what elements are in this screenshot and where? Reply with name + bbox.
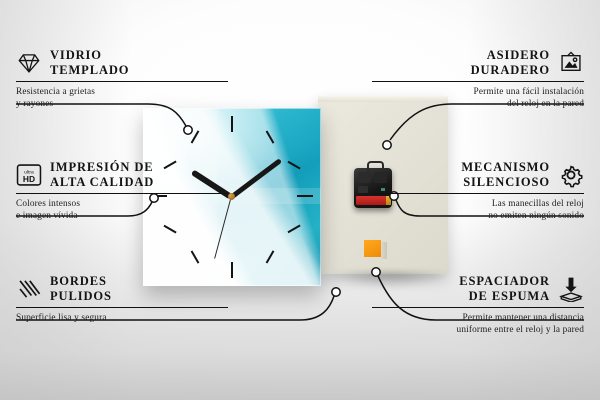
feature-asidero-duradero[interactable]: ASIDERO DURADERO Permite una fácil insta…	[372, 48, 584, 111]
feature-impresion-alta-calidad[interactable]: ultra HD IMPRESIÓN DE ALTA CALIDAD Color…	[16, 160, 228, 223]
feature-title-line1: VIDRIO	[50, 48, 129, 63]
feature-title: BORDES PULIDOS	[50, 274, 112, 304]
feature-description: Resistencia a grietas y rayones	[16, 86, 228, 111]
feature-espaciador-espuma[interactable]: ESPACIADOR DE ESPUMA Permite mantener un…	[372, 274, 584, 337]
feature-title-line2: TEMPLADO	[50, 63, 129, 78]
feature-bordes-pulidos[interactable]: BORDES PULIDOS Superficie lisa y segura	[16, 274, 228, 324]
feature-desc-line2: uniforme entre el reloj y la pared	[372, 324, 584, 337]
feature-divider	[16, 81, 228, 82]
feature-title-line1: BORDES	[50, 274, 112, 289]
foam-spacer-side	[381, 242, 387, 259]
feature-desc-line1: Resistencia a grietas	[16, 86, 228, 99]
feature-title-line1: IMPRESIÓN DE	[50, 160, 154, 175]
feature-divider	[16, 193, 228, 194]
feature-desc-line2: del reloj en la pared	[372, 98, 584, 111]
feature-desc-line1: Colores intensos	[16, 198, 228, 211]
feature-title-line2: ALTA CALIDAD	[50, 175, 154, 190]
feature-title: MECANISMO SILENCIOSO	[461, 160, 550, 190]
feature-title-line2: SILENCIOSO	[461, 175, 550, 190]
feature-desc-line2: e imagen vívida	[16, 210, 228, 223]
feature-divider	[372, 193, 584, 194]
feature-description: Permite una fácil instalación del reloj …	[372, 86, 584, 111]
feature-description: Permite mantener una distancia uniforme …	[372, 312, 584, 337]
feature-desc-line2: y rayones	[16, 98, 228, 111]
feature-description: Las manecillas del reloj no emiten ningú…	[372, 198, 584, 223]
feature-desc-line1: Permite mantener una distancia	[372, 312, 584, 325]
feature-title-line1: MECANISMO	[461, 160, 550, 175]
feature-title: ESPACIADOR DE ESPUMA	[459, 274, 550, 304]
feature-title-line2: PULIDOS	[50, 289, 112, 304]
feature-desc-line2: no emiten ningún sonido	[372, 210, 584, 223]
gear-icon	[558, 162, 584, 188]
feature-description: Colores intensos e imagen vívida	[16, 198, 228, 223]
feature-desc-line1: Superficie lisa y segura	[16, 312, 228, 325]
feature-title-line2: DE ESPUMA	[459, 289, 550, 304]
diagonal-lines-icon	[16, 276, 42, 302]
svg-text:HD: HD	[23, 174, 35, 184]
feature-title-line1: ASIDERO	[471, 48, 550, 63]
feature-divider	[372, 81, 584, 82]
ultra-hd-icon: ultra HD	[16, 162, 42, 188]
mechanism-dial-left	[358, 172, 371, 183]
feature-title: VIDRIO TEMPLADO	[50, 48, 129, 78]
feature-vidrio-templado[interactable]: VIDRIO TEMPLADO Resistencia a grietas y …	[16, 48, 228, 111]
feature-desc-line1: Permite una fácil instalación	[372, 86, 584, 99]
feature-title: IMPRESIÓN DE ALTA CALIDAD	[50, 160, 154, 190]
feature-title: ASIDERO DURADERO	[471, 48, 550, 78]
mechanism-slot	[358, 186, 368, 193]
feature-title-line1: ESPACIADOR	[459, 274, 550, 289]
hanging-frame-icon	[558, 50, 584, 76]
feature-description: Superficie lisa y segura	[16, 312, 228, 325]
foam-spacer	[364, 240, 381, 257]
feature-mecanismo-silencioso[interactable]: MECANISMO SILENCIOSO Las manecillas del …	[372, 160, 584, 223]
feature-title-line2: DURADERO	[471, 63, 550, 78]
diamond-icon	[16, 50, 42, 76]
feature-desc-line1: Las manecillas del reloj	[372, 198, 584, 211]
arrow-down-layers-icon	[558, 276, 584, 302]
feature-divider	[372, 307, 584, 308]
feature-divider	[16, 307, 228, 308]
